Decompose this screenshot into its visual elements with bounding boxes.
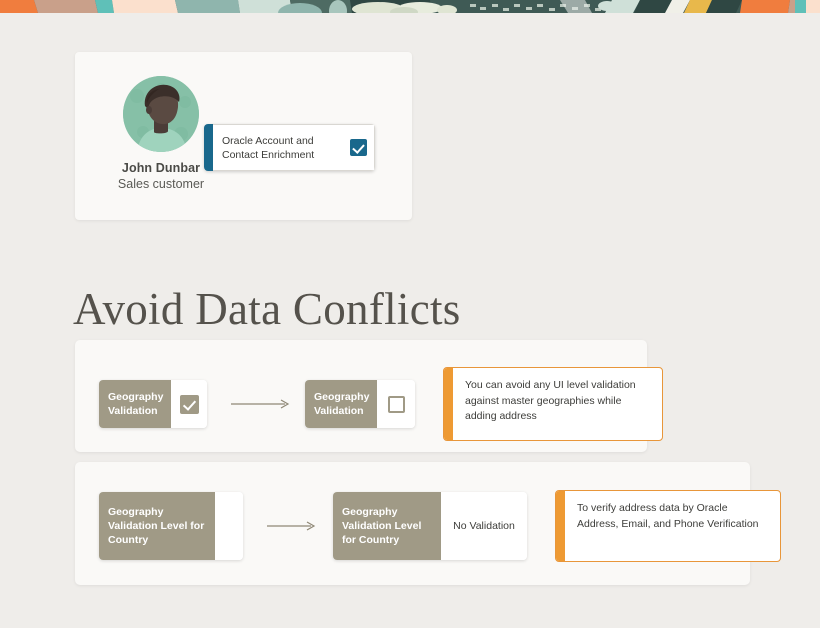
setting-label: Geography Validation (99, 380, 171, 428)
profile-card: John Dunbar Sales customer Oracle Accoun… (75, 52, 412, 220)
note-accent-bar (556, 491, 565, 561)
note-text: You can avoid any UI level validation ag… (453, 368, 662, 440)
note-card: To verify address data by Oracle Address… (555, 490, 781, 562)
flow-row: Geography Validation Level for Country G… (99, 490, 781, 562)
flow-card-geography-validation: Geography Validation Geography Validatio… (75, 340, 647, 452)
setting-value[interactable] (377, 380, 415, 428)
avatar-role: Sales customer (100, 177, 222, 191)
setting-value[interactable]: No Validation (441, 492, 527, 560)
checkbox-checked-icon[interactable] (350, 139, 367, 156)
setting-value[interactable] (215, 492, 243, 560)
setting-box-before[interactable]: Geography Validation Level for Country (99, 492, 243, 560)
note-card: You can avoid any UI level validation ag… (443, 367, 663, 441)
setting-label: Geography Validation (305, 380, 377, 428)
checkbox-unchecked-icon[interactable] (388, 396, 405, 413)
chip-accent-bar (204, 124, 213, 171)
flow-arrow-icon (231, 398, 293, 410)
checkbox-checked-icon[interactable] (180, 395, 199, 414)
setting-label: Geography Validation Level for Country (333, 492, 441, 560)
note-text: To verify address data by Oracle Address… (565, 491, 780, 561)
setting-box-before[interactable]: Geography Validation (99, 380, 207, 428)
feature-label: Oracle Account and Contact Enrichment (222, 134, 345, 162)
avatar (123, 76, 199, 152)
flow-arrow-icon (267, 520, 319, 532)
flow-card-geography-validation-level: Geography Validation Level for Country G… (75, 462, 750, 585)
flow-row: Geography Validation Geography Validatio… (99, 367, 663, 441)
top-illustration-strip (0, 0, 820, 13)
setting-label: Geography Validation Level for Country (99, 492, 215, 560)
chip-body[interactable]: Oracle Account and Contact Enrichment (213, 124, 375, 171)
page-title: Avoid Data Conflicts (73, 283, 461, 335)
setting-value[interactable] (171, 380, 207, 428)
page-canvas: John Dunbar Sales customer Oracle Accoun… (0, 13, 820, 628)
feature-toggle-chip[interactable]: Oracle Account and Contact Enrichment (204, 124, 375, 171)
setting-box-after[interactable]: Geography Validation Level for Country N… (333, 492, 527, 560)
note-accent-bar (444, 368, 453, 440)
setting-box-after[interactable]: Geography Validation (305, 380, 415, 428)
